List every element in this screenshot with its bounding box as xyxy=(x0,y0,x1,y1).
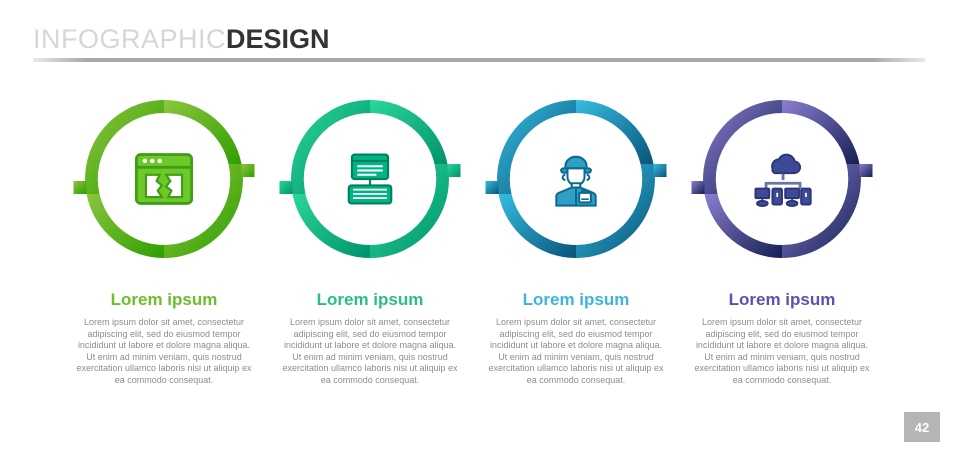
infographic-column-1: Lorem ipsum Lorem ipsum dolor sit amet, … xyxy=(58,86,270,387)
caption-block-1: Lorem ipsum Lorem ipsum dolor sit amet, … xyxy=(71,290,257,387)
caption-block-4: Lorem ipsum Lorem ipsum dolor sit amet, … xyxy=(689,290,875,387)
header-divider xyxy=(33,58,925,62)
ring-badge-2[interactable] xyxy=(277,86,463,272)
caption-body-1: Lorem ipsum dolor sit amet, consectetur … xyxy=(71,317,257,387)
infographic-column-2: Lorem ipsum Lorem ipsum dolor sit amet, … xyxy=(264,86,476,387)
caption-title-1: Lorem ipsum xyxy=(71,290,257,310)
monitor-keyboard-icon xyxy=(277,86,463,272)
cloud-network-icon xyxy=(689,86,875,272)
page-header: INFOGRAPHICDESIGN xyxy=(33,24,925,54)
page-title: INFOGRAPHICDESIGN xyxy=(33,24,925,54)
caption-block-2: Lorem ipsum Lorem ipsum dolor sit amet, … xyxy=(277,290,463,387)
support-technician-icon xyxy=(483,86,669,272)
caption-body-2: Lorem ipsum dolor sit amet, consectetur … xyxy=(277,317,463,387)
broken-browser-window-icon xyxy=(71,86,257,272)
title-bold-part: DESIGN xyxy=(226,24,330,54)
page-number-badge: 42 xyxy=(904,412,940,442)
ring-badge-1[interactable] xyxy=(71,86,257,272)
infographic-column-4: Lorem ipsum Lorem ipsum dolor sit amet, … xyxy=(676,86,888,387)
caption-block-3: Lorem ipsum Lorem ipsum dolor sit amet, … xyxy=(483,290,669,387)
ring-badge-4[interactable] xyxy=(689,86,875,272)
caption-title-4: Lorem ipsum xyxy=(689,290,875,310)
infographic-column-3: Lorem ipsum Lorem ipsum dolor sit amet, … xyxy=(470,86,682,387)
caption-title-2: Lorem ipsum xyxy=(277,290,463,310)
caption-title-3: Lorem ipsum xyxy=(483,290,669,310)
caption-body-3: Lorem ipsum dolor sit amet, consectetur … xyxy=(483,317,669,387)
ring-badge-3[interactable] xyxy=(483,86,669,272)
caption-body-4: Lorem ipsum dolor sit amet, consectetur … xyxy=(689,317,875,387)
infographic-columns: Lorem ipsum Lorem ipsum dolor sit amet, … xyxy=(0,86,958,387)
title-light-part: INFOGRAPHIC xyxy=(33,24,226,54)
